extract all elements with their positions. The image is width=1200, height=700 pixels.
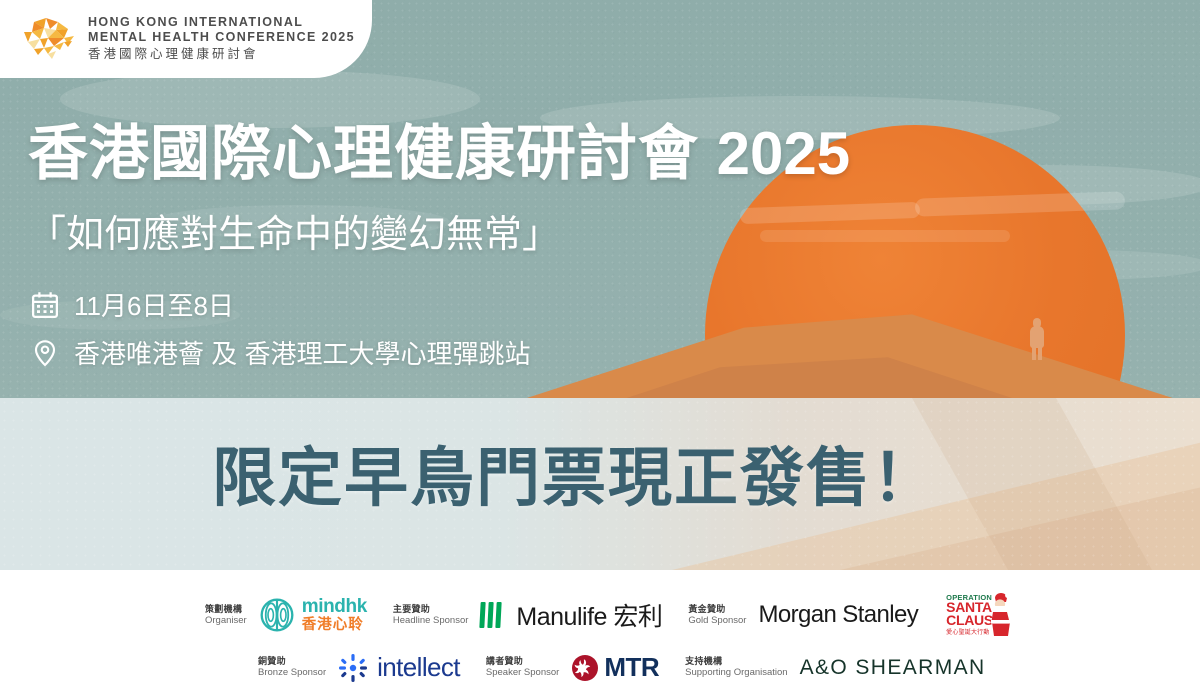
sponsor-operation-santa-claus: OPERATION SANTA CLAUS 愛心聖誕大行動 [944, 592, 1012, 638]
logo-line-2: MENTAL HEALTH CONFERENCE 2025 [88, 30, 355, 45]
sponsor-headline: 主要贊助 Headline Sponsor Manulife 宏利 [393, 597, 662, 633]
mindhk-name-en: mindhk [302, 597, 367, 616]
mindhk-name-zh: 香港心聆 [302, 618, 367, 633]
manulife-wordmark: Manulife 宏利 [516, 597, 662, 633]
logo-line-1: HONG KONG INTERNATIONAL [88, 15, 355, 30]
sponsor-label-en: Organiser [205, 615, 247, 627]
sponsor-label: 銅贊助 Bronze Sponsor [258, 656, 326, 679]
sponsor-label-zh: 策劃機構 [205, 604, 247, 615]
title-year: 2025 [717, 120, 850, 187]
intellect-logo[interactable]: intellect [338, 652, 460, 683]
conference-logo-text: HONG KONG INTERNATIONAL MENTAL HEALTH CO… [88, 15, 355, 63]
brain-polygon-icon [20, 16, 76, 62]
page-title: 香港國際心理健康研討會 2025 [28, 124, 850, 184]
sponsor-organiser: 策劃機構 Organiser mindhk 香港心聆 [205, 597, 367, 633]
figure-body [1030, 326, 1044, 348]
figure-leg [1038, 346, 1042, 360]
page-subtitle: 「如何應對生命中的變幻無常」 [28, 216, 560, 254]
event-location-row: 香港唯港薈 及 香港理工大學心理彈跳站 [30, 334, 530, 371]
ao-shearman-wordmark: A&O SHEARMAN [800, 656, 986, 680]
sponsor-bronze: 銅贊助 Bronze Sponsor intellect [258, 652, 460, 683]
early-bird-headline: 限定早鳥門票現正發售！ [212, 446, 938, 510]
sponsor-label: 黃金贊助 Gold Sponsor [688, 604, 746, 627]
event-date-text: 11月6日至8日 [74, 286, 234, 323]
sponsor-gold: 黃金贊助 Gold Sponsor Morgan Stanley [688, 601, 918, 629]
sponsor-label-zh: 黃金贊助 [688, 604, 746, 615]
sponsor-label-en: Gold Sponsor [688, 615, 746, 627]
conference-logo-plate: HONG KONG INTERNATIONAL MENTAL HEALTH CO… [0, 0, 372, 78]
sponsor-speaker: 講者贊助 Speaker Sponsor MTR [486, 652, 659, 683]
mindhk-brain-icon [259, 597, 295, 633]
sun-highlight [760, 230, 1010, 242]
map-pin-icon [30, 338, 60, 368]
sponsor-label-en: Headline Sponsor [393, 615, 469, 627]
sponsor-row-1: 策劃機構 Organiser mindhk 香港心聆 [205, 592, 1038, 638]
sponsor-row-2: 銅贊助 Bronze Sponsor intellect [258, 652, 1012, 683]
mtr-roundel-icon [571, 654, 599, 682]
sponsor-label-en: Speaker Sponsor [486, 667, 559, 679]
sponsor-label-zh: 主要贊助 [393, 604, 469, 615]
sponsor-label-zh: 講者贊助 [486, 656, 559, 667]
sponsor-label-en: Bronze Sponsor [258, 667, 326, 679]
sponsor-label: 主要贊助 Headline Sponsor [393, 604, 469, 627]
mtr-wordmark: MTR [604, 652, 659, 683]
ao-shearman-logo[interactable]: A&O SHEARMAN [800, 656, 986, 680]
event-date-row: 11月6日至8日 [30, 286, 234, 323]
calendar-icon [30, 290, 60, 320]
morgan-stanley-logo[interactable]: Morgan Stanley [758, 601, 918, 629]
santa-figure-icon [986, 592, 1012, 638]
sponsor-label-zh: 支持機構 [685, 656, 787, 667]
sponsor-supporting: 支持機構 Supporting Organisation A&O SHEARMA… [685, 656, 985, 680]
manulife-bars-icon [480, 602, 504, 628]
mtr-logo[interactable]: MTR [571, 652, 659, 683]
sponsor-label-zh: 銅贊助 [258, 656, 326, 667]
sponsor-label: 支持機構 Supporting Organisation [685, 656, 787, 679]
logo-line-3: 香港國際心理健康研討會 [88, 46, 355, 63]
osc-line-4: 愛心聖誕大行動 [946, 627, 989, 636]
sponsor-label-en: Supporting Organisation [685, 667, 787, 679]
operation-santa-claus-logo[interactable]: OPERATION SANTA CLAUS 愛心聖誕大行動 [944, 592, 1012, 638]
morgan-stanley-wordmark: Morgan Stanley [758, 601, 918, 629]
title-zh: 香港國際心理健康研討會 [28, 120, 699, 187]
intellect-starburst-icon [338, 653, 368, 683]
mindhk-wordmark: mindhk 香港心聆 [302, 597, 367, 633]
figure-leg [1032, 346, 1036, 360]
conference-banner: HONG KONG INTERNATIONAL MENTAL HEALTH CO… [0, 0, 1200, 700]
walking-person-figure [1028, 318, 1046, 360]
event-location-text: 香港唯港薈 及 香港理工大學心理彈跳站 [74, 334, 530, 371]
sponsor-label: 策劃機構 Organiser [205, 604, 247, 627]
sponsor-label: 講者贊助 Speaker Sponsor [486, 656, 559, 679]
intellect-wordmark: intellect [377, 652, 460, 683]
manulife-logo[interactable]: Manulife 宏利 [480, 597, 662, 633]
mindhk-logo[interactable]: mindhk 香港心聆 [259, 597, 367, 633]
